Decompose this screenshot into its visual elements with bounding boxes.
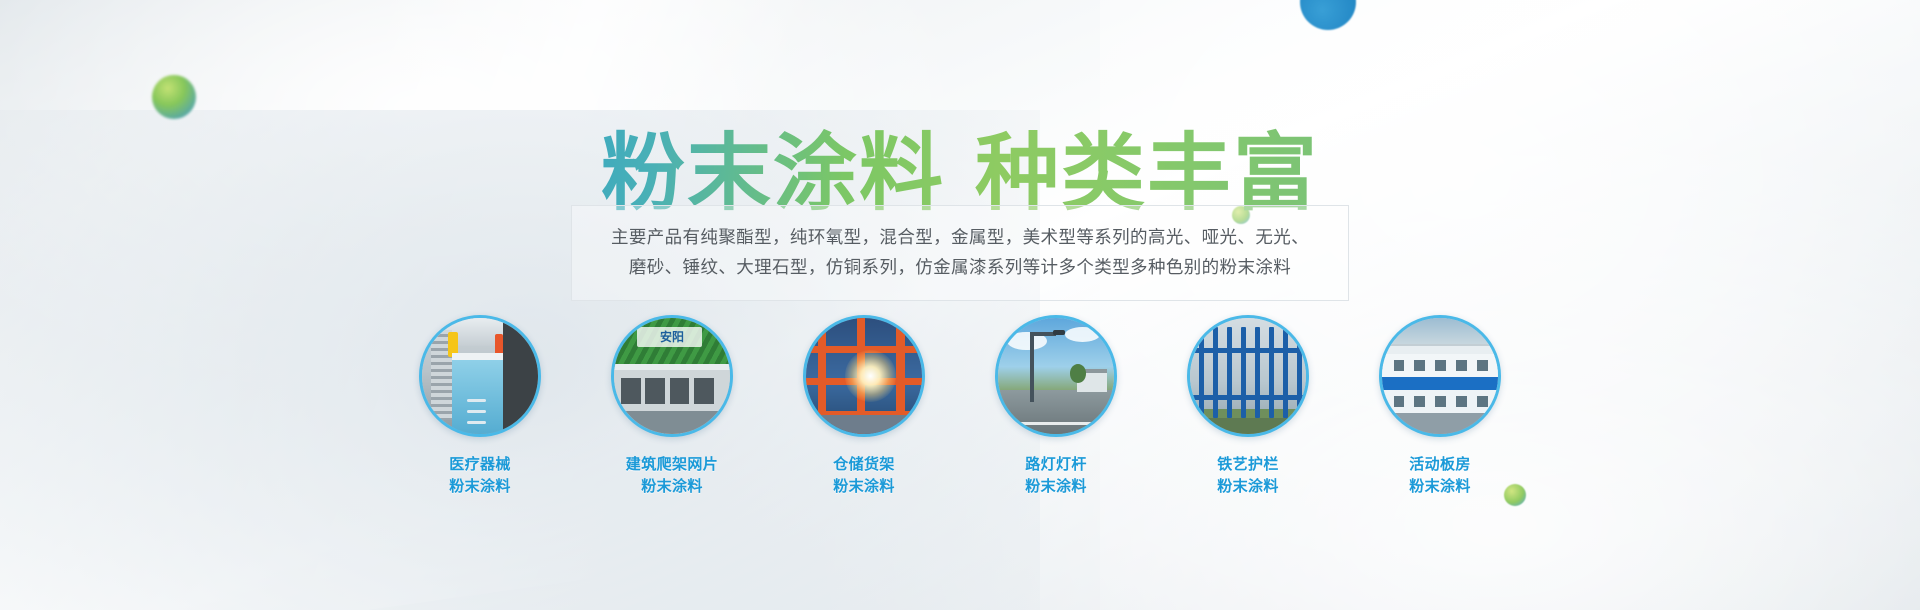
bokeh-dot-icon [1300,0,1356,30]
product-thumbnail[interactable] [1187,315,1309,437]
product-thumbnail[interactable] [419,315,541,437]
medical-equipment-photo-icon [422,318,538,434]
product-thumbnail[interactable]: 安阳 [611,315,733,437]
product-item-prefab-house[interactable]: 活动板房 粉末涂料 [1360,315,1520,498]
product-caption-line2: 粉末涂料 [1217,476,1279,498]
promo-banner: 粉末涂料种类丰富 主要产品有纯聚酯型，纯环氧型，混合型，金属型，美术型等系列的高… [0,0,1920,610]
product-thumbnail[interactable] [995,315,1117,437]
product-caption-line2: 粉末涂料 [449,476,511,498]
product-caption-line2: 粉末涂料 [1409,476,1471,498]
product-caption: 仓储货架 粉末涂料 [833,454,895,498]
product-list: 医疗器械 粉末涂料 安阳 建筑爬架网片 粉末涂料 [400,315,1520,498]
product-caption-line2: 粉末涂料 [1025,476,1087,498]
iron-fence-photo-icon [1190,318,1306,434]
construction-scaffold-net-photo-icon: 安阳 [614,318,730,434]
product-caption-line1: 仓储货架 [833,456,895,473]
product-thumbnail[interactable] [803,315,925,437]
product-caption: 路灯灯杆 粉末涂料 [1025,454,1087,498]
thumbnail-sign-text: 安阳 [614,328,730,345]
banner-subtitle-text: 主要产品有纯聚酯型，纯环氧型，混合型，金属型，美术型等系列的高光、哑光、无光、磨… [611,227,1309,277]
product-caption: 建筑爬架网片 粉末涂料 [626,454,718,498]
product-item-scaffold-net[interactable]: 安阳 建筑爬架网片 粉末涂料 [592,315,752,498]
banner-subtitle-box: 主要产品有纯聚酯型，纯环氧型，混合型，金属型，美术型等系列的高光、哑光、无光、磨… [571,205,1349,301]
light-glow-decoration [1100,0,1920,610]
product-caption: 活动板房 粉末涂料 [1409,454,1471,498]
product-caption-line1: 路灯灯杆 [1025,456,1087,473]
bokeh-dot-icon [152,75,196,119]
street-lamp-pole-photo-icon [998,318,1114,434]
product-item-medical[interactable]: 医疗器械 粉末涂料 [400,315,560,498]
prefab-house-photo-icon [1382,318,1498,434]
product-item-warehouse-rack[interactable]: 仓储货架 粉末涂料 [784,315,944,498]
product-caption-line1: 铁艺护栏 [1217,456,1279,473]
product-caption: 铁艺护栏 粉末涂料 [1217,454,1279,498]
product-item-street-lamp[interactable]: 路灯灯杆 粉末涂料 [976,315,1136,498]
product-item-iron-fence[interactable]: 铁艺护栏 粉末涂料 [1168,315,1328,498]
product-caption-line1: 建筑爬架网片 [626,456,718,473]
product-caption-line1: 医疗器械 [449,456,511,473]
product-caption-line2: 粉末涂料 [626,476,718,498]
product-thumbnail[interactable] [1379,315,1501,437]
product-caption-line2: 粉末涂料 [833,476,895,498]
light-sweep-decoration [0,0,1355,610]
product-caption-line1: 活动板房 [1409,456,1471,473]
product-caption: 医疗器械 粉末涂料 [449,454,511,498]
warehouse-racking-photo-icon [806,318,922,434]
